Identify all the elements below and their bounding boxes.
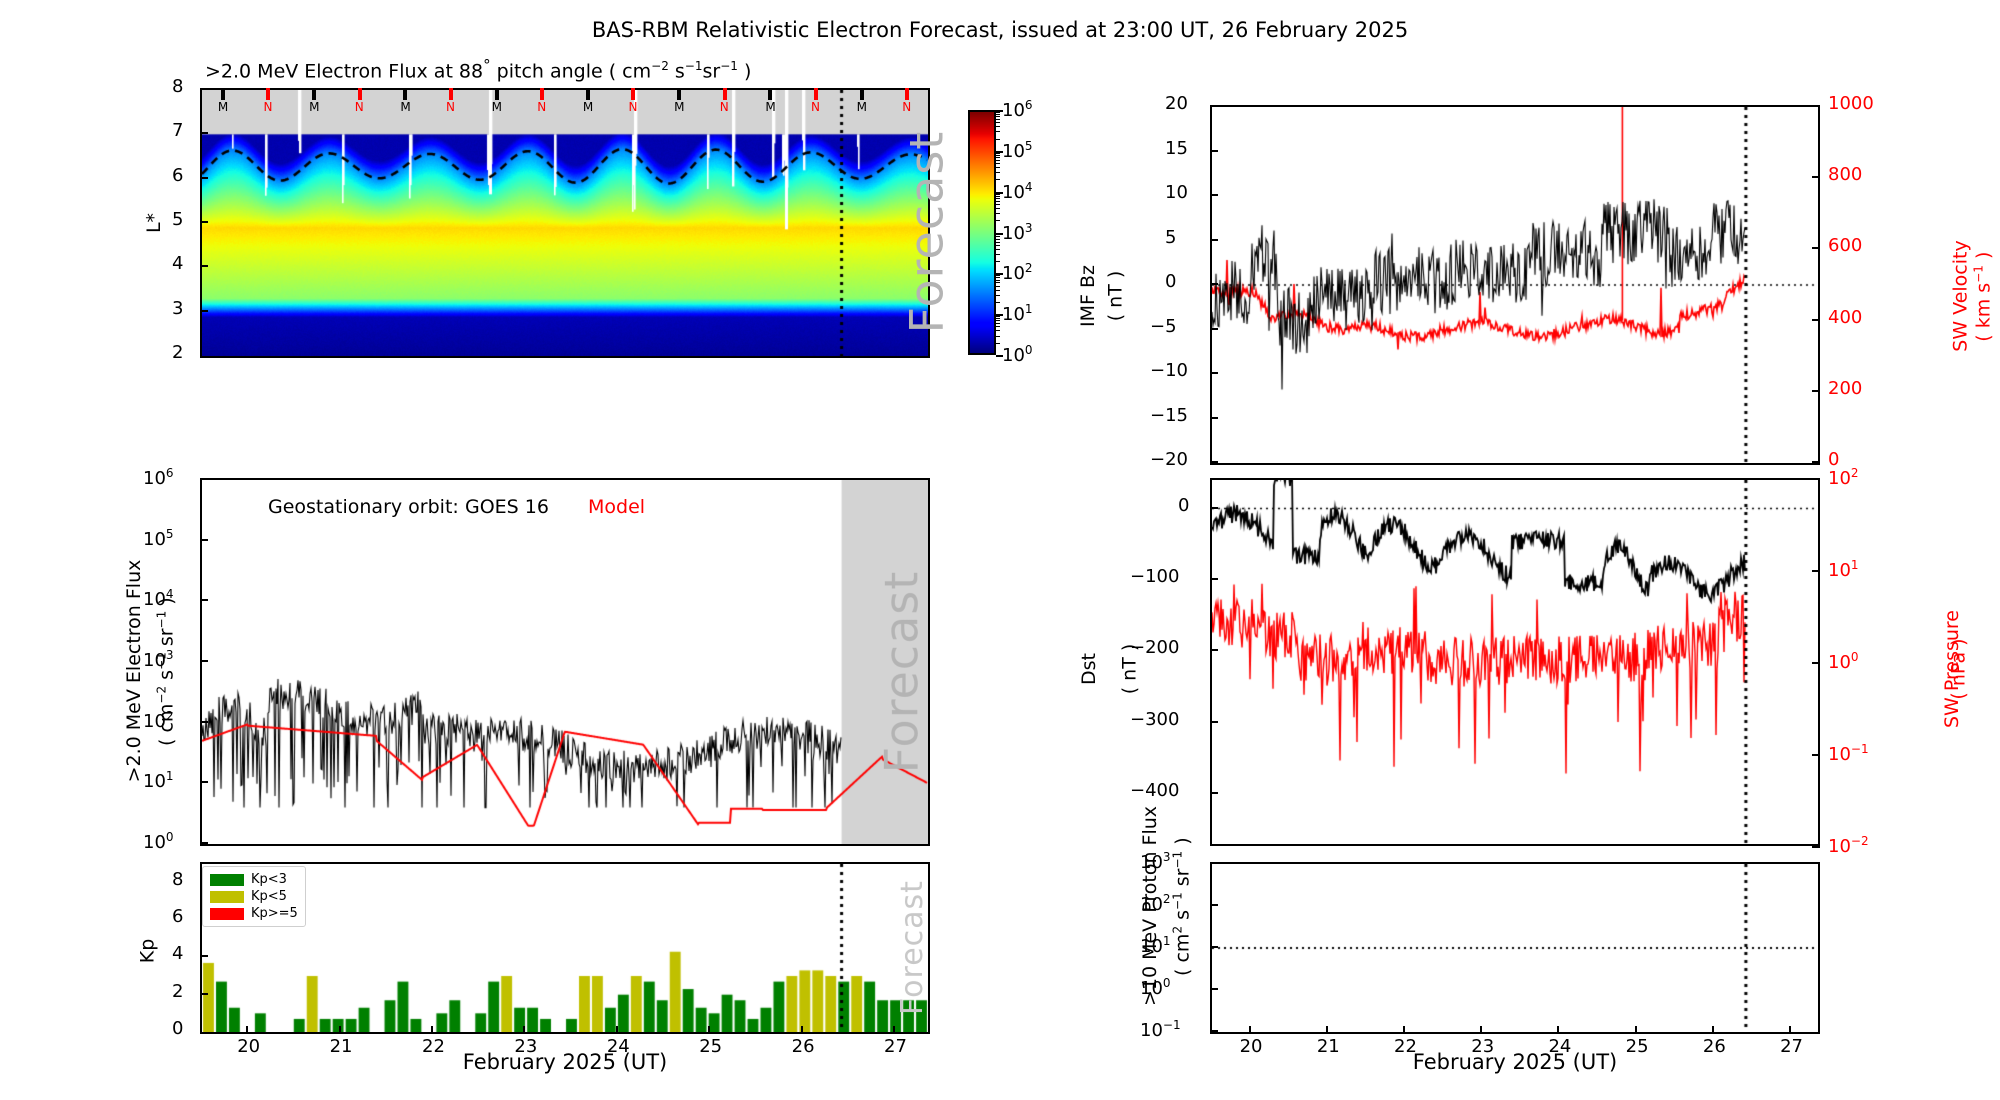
imf-bz-panel — [1210, 105, 1820, 465]
imf-bz-tick-mark — [1210, 105, 1218, 107]
colorbar-minor-tick — [996, 245, 1000, 246]
geo-flux-tick-mark — [200, 721, 208, 723]
geo-flux-ylabel-line1: >2.0 MeV Electron Flux — [123, 521, 145, 821]
geo-legend-goes: GOES 16 — [465, 496, 549, 518]
colorbar-minor-tick — [996, 336, 1000, 337]
colorbar-tick: 106 — [1002, 98, 1033, 121]
proton-xtick-mark — [1712, 1026, 1714, 1034]
colorbar-minor-tick — [996, 139, 1000, 140]
proton-xtick-mark — [1789, 1026, 1791, 1034]
sw-velocity-tick-mark — [1812, 461, 1820, 463]
flux-map-canvas — [202, 90, 928, 356]
colorbar-minor-tick — [996, 116, 1000, 117]
flux-map-marker-m: M — [674, 100, 684, 114]
imf-bz-tick-mark — [1210, 372, 1218, 374]
dst-ylabel-line1: Dst — [1078, 653, 1100, 685]
imf-bz-ytick: 0 — [1165, 271, 1176, 292]
kp-panel — [200, 862, 930, 1034]
colorbar-minor-tick — [996, 155, 1000, 156]
flux-map-marker-n: N — [263, 100, 272, 114]
colorbar-tick: 103 — [1002, 221, 1033, 244]
geo-flux-tick-mark — [200, 599, 208, 601]
geo-flux-tick-mark — [200, 842, 208, 844]
flux-map-ytick: 2 — [172, 342, 183, 363]
imf-bz-tick-mark — [1210, 283, 1218, 285]
kp-xtick-mark — [801, 1026, 803, 1034]
kp-tick-mark — [200, 993, 208, 995]
colorbar-minor-tick — [996, 236, 1000, 237]
flux-map-marker-m: M — [218, 100, 228, 114]
flux-map-ytick: 8 — [172, 76, 183, 97]
colorbar-minor-tick — [996, 220, 1000, 221]
colorbar-minor-tick — [996, 242, 1000, 243]
sw-pressure-tick-mark — [1812, 846, 1820, 848]
flux-map-marker-tick — [358, 88, 362, 100]
sw-velocity-tick-mark — [1812, 390, 1820, 392]
colorbar-minor-tick — [996, 201, 1000, 202]
flux-map-marker-n: N — [355, 100, 364, 114]
kp-legend-label: Kp<3 — [251, 872, 287, 887]
colorbar-minor-tick — [996, 153, 1000, 154]
geo-flux-ytick: 106 — [143, 466, 174, 489]
geo-flux-panel — [200, 478, 930, 846]
proton-tick-mark — [1210, 904, 1218, 906]
kp-ytick: 2 — [172, 981, 183, 1002]
colorbar-minor-tick — [996, 112, 1000, 113]
kp-xtick-mark — [339, 1026, 341, 1034]
kp-legend-swatch — [210, 874, 244, 886]
colorbar-minor-tick — [996, 160, 1000, 161]
kp-legend-swatch — [210, 891, 244, 903]
flux-map-marker-tick — [860, 88, 864, 100]
colorbar-minor-tick — [996, 275, 1000, 276]
geo-flux-tick-mark — [200, 539, 208, 541]
colorbar-minor-tick — [996, 302, 1000, 303]
kp-xtick-mark — [523, 1026, 525, 1034]
flux-map-marker-tick — [221, 88, 225, 100]
geo-flux-ytick: 100 — [143, 830, 174, 853]
kp-xtick-mark — [893, 1026, 895, 1034]
kp-legend-row-0: Kp<3 — [210, 871, 298, 888]
dst-ylabel-line2: ( nT ) — [1118, 644, 1140, 695]
flux-map-marker-tick — [631, 88, 635, 100]
flux-map-marker-n: N — [628, 100, 637, 114]
kp-tick-mark — [200, 955, 208, 957]
sw-pressure-tick-mark — [1812, 754, 1820, 756]
kp-xtick-mark — [708, 1026, 710, 1034]
colorbar-minor-tick — [996, 330, 1000, 331]
kp-ytick: 6 — [172, 906, 183, 927]
imf-bz-ytick: −15 — [1150, 405, 1188, 426]
sw-pressure-ytick: 10−1 — [1828, 742, 1869, 765]
proton-xtick-mark — [1326, 1026, 1328, 1034]
colorbar-minor-tick — [996, 295, 1000, 296]
colorbar-minor-tick — [996, 290, 1000, 291]
kp-xtick-mark — [616, 1026, 618, 1034]
kp-legend: Kp<3Kp<5Kp>=5 — [202, 866, 306, 927]
colorbar-minor-tick — [996, 194, 1000, 195]
geo-flux-tick-mark — [200, 660, 208, 662]
flux-map-ytick: 4 — [172, 253, 183, 274]
sw-velocity-ytick: 400 — [1828, 307, 1862, 328]
imf-bz-tick-mark — [1210, 239, 1218, 241]
flux-map-ytick: 3 — [172, 298, 183, 319]
dst-canvas — [1212, 480, 1818, 844]
geo-flux-ylabel-line2: ( cm−2 s−1 sr−1 ) — [154, 522, 177, 822]
flux-map-marker-n: N — [537, 100, 546, 114]
colorbar-gradient — [970, 112, 994, 353]
colorbar-minor-tick — [996, 119, 1000, 120]
flux-map-title: >2.0 MeV Electron Flux at 88° pitch angl… — [205, 56, 751, 82]
colorbar-minor-tick — [996, 131, 1000, 132]
proton-xtick-mark — [1557, 1026, 1559, 1034]
sw-velocity-tick-mark — [1812, 319, 1820, 321]
flux-map-marker-tick — [768, 88, 772, 100]
kp-ytick: 4 — [172, 943, 183, 964]
colorbar-minor-tick — [996, 320, 1000, 321]
colorbar-minor-tick — [996, 122, 1000, 123]
colorbar-minor-tick — [996, 198, 1000, 199]
sw-velocity-tick-mark — [1812, 247, 1820, 249]
proton-flux-ylabel-line2: ( cm2 s−1 sr−1 ) — [1170, 787, 1193, 1027]
flux-map-marker-m: M — [492, 100, 502, 114]
colorbar-minor-tick — [996, 280, 1000, 281]
geo-flux-tick-mark — [200, 781, 208, 783]
flux-map-marker-m: M — [309, 100, 319, 114]
proton-flux-canvas — [1212, 864, 1818, 1032]
imf-bz-ytick: −5 — [1150, 316, 1177, 337]
colorbar-minor-tick — [996, 179, 1000, 180]
colorbar-minor-tick — [996, 318, 1000, 319]
kp-legend-label: Kp>=5 — [251, 906, 298, 921]
colorbar-minor-tick — [996, 277, 1000, 278]
colorbar-minor-tick — [996, 126, 1000, 127]
imf-bz-tick-mark — [1210, 194, 1218, 196]
imf-bz-canvas — [1212, 107, 1818, 463]
flux-map-tick-mark — [200, 177, 208, 179]
sw-pressure-ytick: 101 — [1828, 558, 1859, 581]
colorbar-tick-mark — [996, 355, 1003, 357]
kp-forecast-watermark: Forecast — [895, 880, 930, 1015]
imf-bz-ytick: 20 — [1165, 93, 1188, 114]
dst-tick-mark — [1210, 578, 1218, 580]
flux-map-ytick: 6 — [172, 165, 183, 186]
colorbar-minor-tick — [996, 204, 1000, 205]
sw-velocity-ylabel-line2: ( km s−1 ) — [1971, 252, 1994, 342]
flux-map-ytick: 7 — [172, 120, 183, 141]
lstar-axis-label: L* — [143, 213, 165, 233]
flux-map-marker-tick — [814, 88, 818, 100]
colorbar-minor-tick — [996, 114, 1000, 115]
kp-legend-swatch — [210, 908, 244, 920]
proton-xtick-mark — [1480, 1026, 1482, 1034]
sw-velocity-ytick: 1000 — [1828, 93, 1874, 114]
proton-xtick-mark — [1403, 1026, 1405, 1034]
proton-xtick-mark — [1249, 1026, 1251, 1034]
flux-map-marker-m: M — [400, 100, 410, 114]
flux-map-marker-n: N — [720, 100, 729, 114]
dst-tick-mark — [1210, 792, 1218, 794]
colorbar-minor-tick — [996, 286, 1000, 287]
imf-bz-ytick: 15 — [1165, 138, 1188, 159]
imf-bz-tick-mark — [1210, 461, 1218, 463]
geo-flux-tick-mark — [200, 478, 208, 480]
colorbar-minor-tick — [996, 323, 1000, 324]
flux-map-marker-n: N — [811, 100, 820, 114]
colorbar-minor-tick — [996, 234, 1000, 235]
colorbar-minor-tick — [996, 172, 1000, 173]
flux-map-marker-tick — [723, 88, 727, 100]
sw-pressure-tick-mark — [1812, 662, 1820, 664]
dst-tick-mark — [1210, 649, 1218, 651]
geo-legend-model: Model — [588, 496, 645, 518]
flux-map-forecast-watermark: Forecast — [899, 131, 953, 334]
flux-map-marker-m: M — [857, 100, 867, 114]
flux-map-marker-m: M — [583, 100, 593, 114]
kp-xtick-mark — [246, 1026, 248, 1034]
kp-axis-label: Kp — [136, 939, 158, 964]
flux-map-tick-mark — [200, 132, 208, 134]
dst-tick-mark — [1210, 507, 1218, 509]
flux-map-marker-tick — [540, 88, 544, 100]
imf-bz-ytick: 5 — [1165, 227, 1176, 248]
sw-velocity-ytick: 600 — [1828, 235, 1862, 256]
colorbar-tick: 101 — [1002, 302, 1033, 325]
colorbar-minor-tick — [996, 239, 1000, 240]
flux-map-tick-mark — [200, 221, 208, 223]
page-title: BAS-RBM Relativistic Electron Forecast, … — [0, 18, 2000, 42]
colorbar-minor-tick — [996, 316, 1000, 317]
imf-bz-ytick: −20 — [1150, 449, 1188, 470]
dst-tick-mark — [1210, 721, 1218, 723]
colorbar-minor-tick — [996, 208, 1000, 209]
colorbar-minor-tick — [996, 157, 1000, 158]
flux-map-marker-tick — [403, 88, 407, 100]
flux-map-marker-tick — [312, 88, 316, 100]
sw-pressure-tick-mark — [1812, 570, 1820, 572]
flux-map-marker-tick — [266, 88, 270, 100]
colorbar-minor-tick — [996, 254, 1000, 255]
sw-pressure-ytick: 102 — [1828, 466, 1859, 489]
flux-map-marker-m: M — [765, 100, 775, 114]
kp-xaxis-label: February 2025 (UT) — [200, 1050, 930, 1074]
flux-map-marker-tick — [495, 88, 499, 100]
imf-bz-tick-mark — [1210, 417, 1218, 419]
dst-ytick: 0 — [1178, 495, 1189, 516]
proton-xaxis-label: February 2025 (UT) — [1210, 1050, 1820, 1074]
sw-velocity-ytick: 800 — [1828, 164, 1862, 185]
sw-velocity-tick-mark — [1812, 105, 1820, 107]
sw-pressure-ylabel-line2: ( nPa ) — [1948, 638, 1970, 699]
sw-velocity-ylabel-line1: SW Velocity — [1950, 240, 1972, 351]
colorbar-tick: 105 — [1002, 139, 1033, 162]
kp-legend-label: Kp<5 — [251, 889, 287, 904]
proton-tick-mark — [1210, 946, 1218, 948]
kp-canvas — [202, 864, 928, 1032]
flux-map-marker-tick — [449, 88, 453, 100]
colorbar — [968, 110, 996, 355]
flux-map-panel — [200, 88, 930, 358]
imf-bz-tick-mark — [1210, 328, 1218, 330]
proton-tick-mark — [1210, 862, 1218, 864]
colorbar-minor-tick — [996, 326, 1000, 327]
dst-panel — [1210, 478, 1820, 846]
colorbar-minor-tick — [996, 282, 1000, 283]
sw-pressure-ytick: 10−2 — [1828, 834, 1869, 857]
geo-flux-canvas — [202, 480, 928, 844]
colorbar-minor-tick — [996, 343, 1000, 344]
flux-map-marker-tick — [905, 88, 909, 100]
flux-map-ytick: 5 — [172, 209, 183, 230]
dst-ytick: −300 — [1130, 709, 1179, 730]
flux-map-tick-mark — [200, 265, 208, 267]
flux-map-marker-n: N — [902, 100, 911, 114]
colorbar-minor-tick — [996, 261, 1000, 262]
colorbar-tick: 104 — [1002, 180, 1033, 203]
geo-legend-prefix: Geostationary orbit: — [268, 496, 459, 518]
sw-pressure-tick-mark — [1812, 478, 1820, 480]
kp-ytick: 8 — [172, 869, 183, 890]
proton-xtick-mark — [1635, 1026, 1637, 1034]
colorbar-minor-tick — [996, 249, 1000, 250]
imf-bz-tick-mark — [1210, 150, 1218, 152]
kp-legend-row-1: Kp<5 — [210, 888, 298, 905]
flux-map-marker-tick — [677, 88, 681, 100]
proton-flux-panel — [1210, 862, 1820, 1034]
proton-tick-mark — [1210, 988, 1218, 990]
imf-bz-ytick: 10 — [1165, 182, 1188, 203]
sw-velocity-tick-mark — [1812, 176, 1820, 178]
colorbar-tick: 100 — [1002, 343, 1033, 366]
imf-bz-ylabel-line1: IMF Bz — [1077, 265, 1099, 327]
sw-pressure-ytick: 100 — [1828, 650, 1859, 673]
geo-flux-forecast-watermark: Forecast — [874, 571, 928, 774]
sw-velocity-ytick: 200 — [1828, 378, 1862, 399]
proton-tick-mark — [1210, 1030, 1218, 1032]
kp-legend-row-2: Kp>=5 — [210, 905, 298, 922]
colorbar-minor-tick — [996, 213, 1000, 214]
proton-flux-ylabel-line1: >10 MeV Proton Flux — [1139, 786, 1161, 1026]
flux-map-tick-mark — [200, 310, 208, 312]
flux-map-marker-n: N — [446, 100, 455, 114]
colorbar-minor-tick — [996, 196, 1000, 197]
colorbar-tick: 102 — [1002, 261, 1033, 284]
colorbar-minor-tick — [996, 167, 1000, 168]
flux-map-marker-tick — [586, 88, 590, 100]
colorbar-minor-tick — [996, 163, 1000, 164]
imf-bz-ylabel-line2: ( nT ) — [1104, 271, 1126, 322]
kp-xtick-mark — [431, 1026, 433, 1034]
dst-ytick: −100 — [1130, 566, 1179, 587]
kp-ytick: 0 — [172, 1018, 183, 1039]
imf-bz-ytick: −10 — [1150, 360, 1188, 381]
